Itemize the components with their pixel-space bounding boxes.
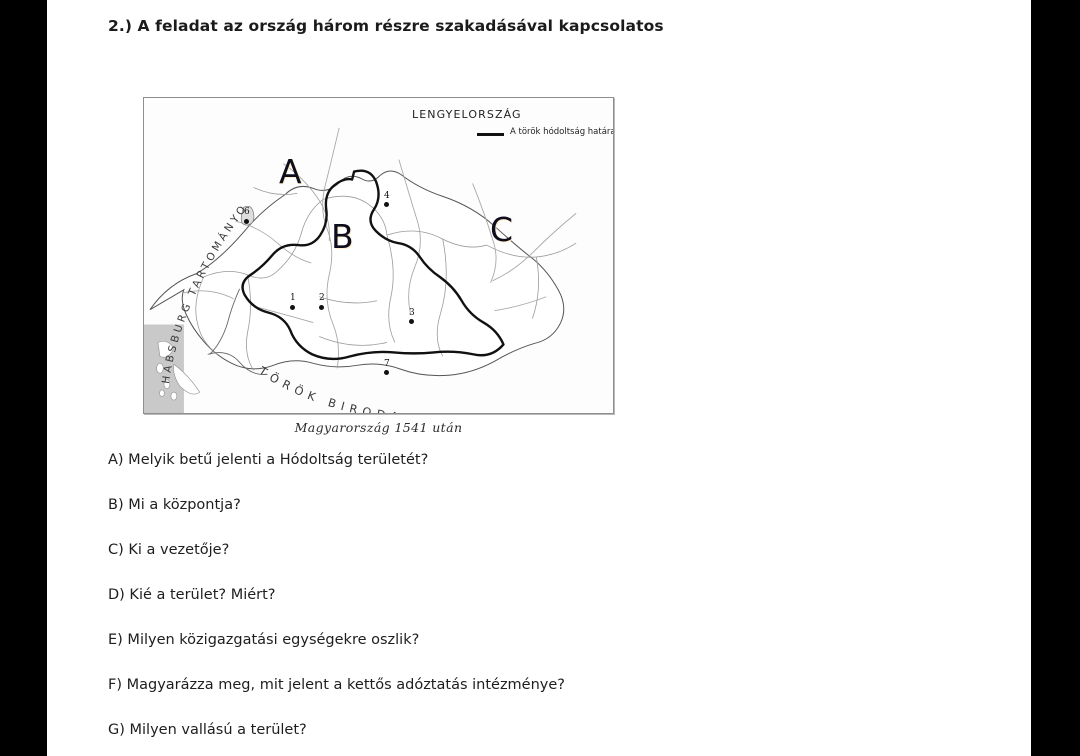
legend-label: A török hódoltság határa xyxy=(510,127,614,137)
city-dot-2 xyxy=(319,305,324,310)
page-title: 2.) A feladat az ország három részre sza… xyxy=(108,17,664,35)
question-item-e: E) Milyen közigazgatási egységekre oszli… xyxy=(108,632,988,648)
city-number-2: 2 xyxy=(319,294,325,303)
question-item-d: D) Kié a terület? Miért? xyxy=(108,587,988,603)
city-dot-3 xyxy=(409,319,414,324)
question-item-a: A) Melyik betű jelenti a Hódoltság terül… xyxy=(108,452,988,468)
city-number-7: 7 xyxy=(384,360,390,369)
city-dot-1 xyxy=(290,305,295,310)
map-region-letter-a: A xyxy=(279,155,302,188)
screen: 2.) A feladat az ország három részre sza… xyxy=(0,0,1080,756)
map-region-letter-c: C xyxy=(490,213,513,246)
label-poland: LENGYELORSZÁG xyxy=(412,108,522,121)
letterbox-bar-right xyxy=(1031,0,1080,756)
map-region-letter-b: B xyxy=(331,220,354,253)
map-figure: HABSBURG TARTOMÁNYOK TÖRÖK BIRODALOM LEN… xyxy=(143,97,614,435)
question-item-b: B) Mi a központja? xyxy=(108,497,988,513)
map-caption: Magyarország 1541 után xyxy=(143,420,614,435)
document-page: 2.) A feladat az ország három részre sza… xyxy=(47,0,1031,756)
city-number-1: 1 xyxy=(290,294,296,303)
legend-line-swatch xyxy=(477,133,504,136)
map-frame: HABSBURG TARTOMÁNYOK TÖRÖK BIRODALOM LEN… xyxy=(143,97,614,414)
city-number-3: 3 xyxy=(409,309,415,318)
city-dot-4 xyxy=(384,202,389,207)
question-item-c: C) Ki a vezetője? xyxy=(108,542,988,558)
city-number-6: 6 xyxy=(244,208,250,217)
question-item-g: G) Milyen vallású a terület? xyxy=(108,722,988,738)
question-item-f: F) Magyarázza meg, mit jelent a kettős a… xyxy=(108,677,988,693)
city-dot-6 xyxy=(244,219,249,224)
map-drawing: HABSBURG TARTOMÁNYOK TÖRÖK BIRODALOM xyxy=(144,98,613,413)
letterbox-bar-left xyxy=(0,0,47,756)
questions-list: A) Melyik betű jelenti a Hódoltság terül… xyxy=(108,452,988,756)
city-dot-7 xyxy=(384,370,389,375)
city-number-4: 4 xyxy=(384,192,390,201)
